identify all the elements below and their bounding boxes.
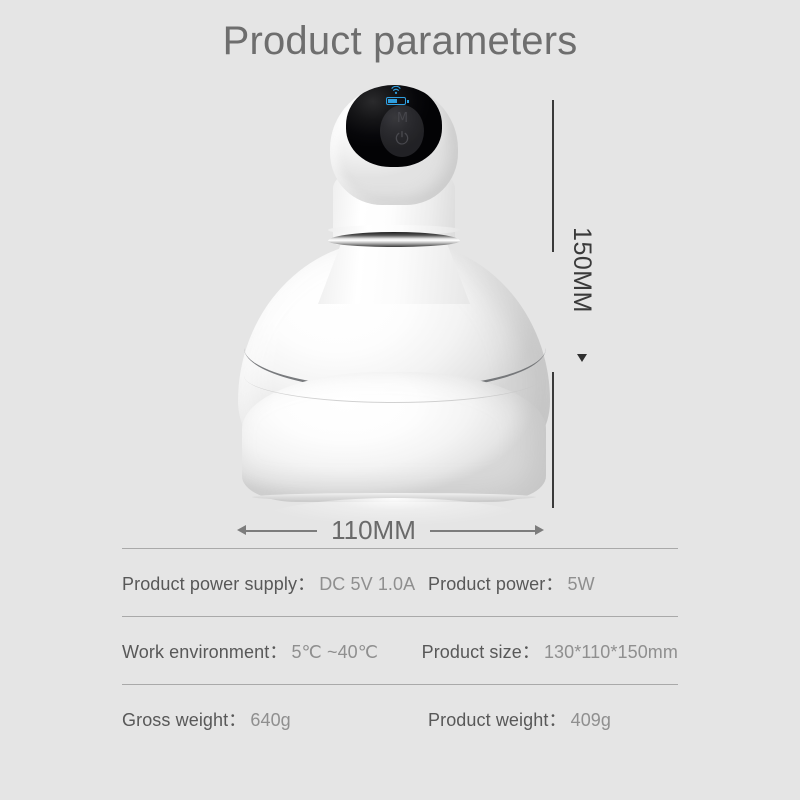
width-dimension-line-right: [430, 530, 535, 532]
spec-label: Product power：: [428, 570, 563, 596]
spec-cell-product-size: Product size： 130*110*150mm: [422, 638, 678, 664]
battery-fill: [388, 99, 397, 103]
spec-row: Product power supply： DC 5V 1.0A Product…: [122, 549, 678, 616]
spec-label: Product weight：: [428, 706, 567, 732]
spec-cell-product-weight: Product weight： 409g: [428, 706, 678, 732]
product-parameters-page: Product parameters: [0, 0, 800, 800]
spec-row: Gross weight： 640g Product weight： 409g: [122, 685, 678, 752]
spec-cell-gross-weight: Gross weight： 640g: [122, 706, 428, 732]
spec-cell-power-supply: Product power supply： DC 5V 1.0A: [122, 570, 428, 596]
spec-cell-product-power: Product power： 5W: [428, 570, 678, 596]
height-dimension-line-top: [552, 100, 554, 252]
spec-cell-work-environment: Work environment： 5℃ ~40℃: [122, 638, 422, 664]
width-dimension-label: 110MM: [317, 513, 430, 547]
camera-lens: M ⏻: [380, 105, 424, 157]
spec-label: Gross weight：: [122, 706, 246, 732]
spec-value: 130*110*150mm: [544, 642, 678, 663]
width-dimension-arrow-right-icon: [535, 525, 544, 535]
width-dimension-line-left: [245, 530, 317, 532]
spec-value: 409g: [571, 710, 611, 731]
height-dimension-caret-icon: [577, 354, 587, 362]
specifications-table: Product power supply： DC 5V 1.0A Product…: [122, 548, 678, 752]
spec-value: 640g: [250, 710, 290, 731]
spec-value: DC 5V 1.0A: [319, 574, 415, 595]
spec-row: Work environment： 5℃ ~40℃ Product size： …: [122, 617, 678, 684]
product-camera-head: M ⏻: [330, 85, 458, 205]
battery-icon: [386, 97, 406, 105]
spec-value: 5W: [567, 574, 594, 595]
power-symbol-icon: ⏻: [380, 129, 424, 149]
height-dimension-line-bottom: [552, 372, 554, 508]
spec-label: Product power supply：: [122, 570, 315, 596]
spec-label: Product size：: [422, 638, 540, 664]
lens-brand-mark: M: [380, 111, 424, 126]
product-chrome-ring: [328, 232, 460, 247]
height-dimension-label: 150MM: [562, 210, 602, 330]
page-title: Product parameters: [0, 14, 800, 68]
spec-label: Work environment：: [122, 638, 287, 664]
product-image: M ⏻: [200, 80, 600, 540]
spec-value: 5℃ ~40℃: [291, 642, 378, 663]
camera-face-panel: M ⏻: [346, 85, 442, 167]
